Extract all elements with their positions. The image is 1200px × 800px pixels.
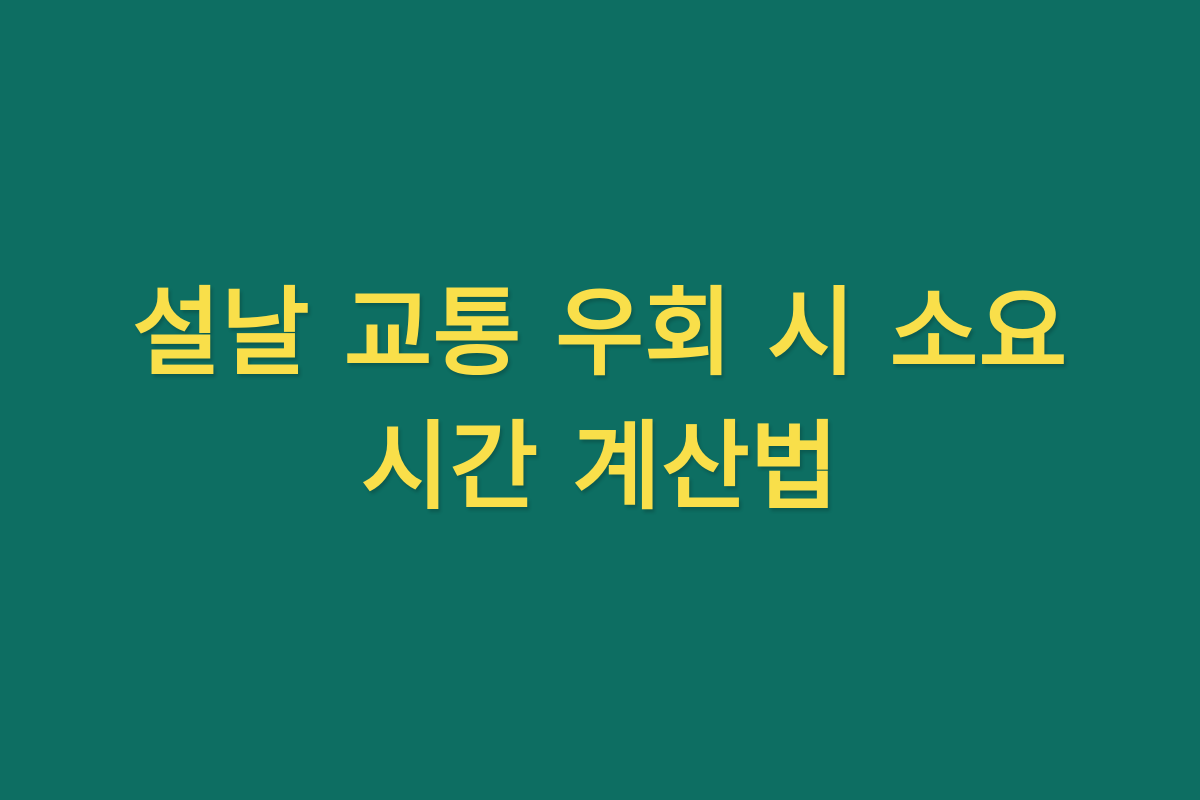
title-card-banner: 설날 교통 우회 시 소요 시간 계산법 [0,0,1200,800]
page-title-line-2: 시간 계산법 [70,401,1130,533]
page-title: 설날 교통 우회 시 소요 시간 계산법 [70,267,1130,534]
page-title-line-1: 설날 교통 우회 시 소요 [70,267,1130,399]
